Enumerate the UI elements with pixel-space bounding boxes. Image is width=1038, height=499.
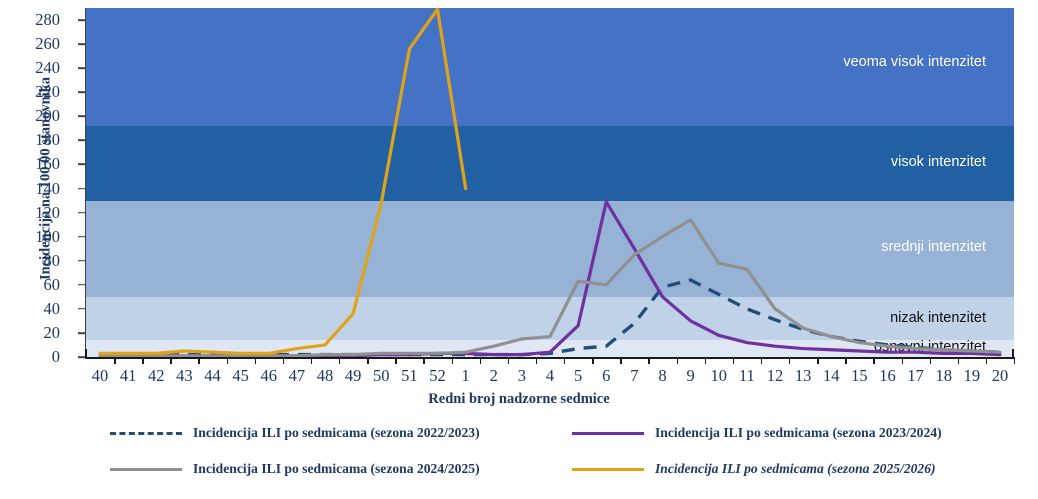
x-tick-label: 5 [574,366,582,386]
x-axis-title: Redni broj nadzorne sedmice [0,391,1038,408]
x-tick-label: 2 [490,366,498,386]
x-tick-label: 3 [518,366,526,386]
x-tick-label: 19 [964,366,981,386]
legend-label: Incidencija ILI po sedmicama (sezona 202… [193,425,480,441]
x-tick-mark [789,357,790,364]
x-tick-mark [733,357,734,364]
x-tick-mark [114,357,115,364]
y-tick-label: 100 [35,227,60,247]
x-tick-label: 20 [992,366,1009,386]
x-tick-mark [480,357,481,364]
y-tick-label: 240 [35,58,60,78]
x-tick-label: 8 [658,366,666,386]
legend-label: Incidencija ILI po sedmicama (sezona 202… [655,461,936,477]
y-tick-label: 120 [35,203,60,223]
x-tick-label: 43 [176,366,193,386]
x-tick-label: 13 [795,366,812,386]
legend-item[interactable]: Incidencija ILI po sedmicama (sezona 202… [110,425,480,441]
x-tick-label: 16 [879,366,896,386]
chart-legend: Incidencija ILI po sedmicama (sezona 202… [0,417,1038,495]
y-tick-label: 140 [35,179,60,199]
x-tick-label: 49 [345,366,362,386]
series-line [100,202,1000,356]
x-tick-mark [677,357,678,364]
x-tick-mark [255,357,256,364]
series-line [100,220,1000,356]
plot-area: veoma visok intenzitetvisok intenzitetsr… [86,8,1014,357]
x-tick-mark [873,357,874,364]
legend-label: Incidencija ILI po sedmicama (sezona 202… [655,425,942,441]
x-tick-label: 41 [120,366,137,386]
x-tick-mark [958,357,959,364]
x-axis-left-cap [85,349,87,358]
x-tick-mark [705,357,706,364]
y-tick-label: 160 [35,154,60,174]
legend-swatch-3 [110,468,182,471]
x-tick-label: 10 [710,366,727,386]
x-tick-mark [1014,357,1015,364]
series-line [100,9,466,353]
y-tick-label: 220 [35,82,60,102]
x-tick-label: 15 [851,366,868,386]
x-tick-mark [198,357,199,364]
y-tick-label: 60 [44,275,61,295]
legend-swatch-4 [572,468,644,471]
x-tick-label: 50 [373,366,390,386]
x-tick-mark [311,357,312,364]
x-tick-mark [902,357,903,364]
series-lines [86,8,1014,357]
y-tick-label: 40 [44,299,61,319]
legend-swatch-2 [572,432,644,435]
x-tick-mark [817,357,818,364]
x-tick-label: 11 [739,366,755,386]
x-tick-mark [452,357,453,364]
x-tick-mark [592,357,593,364]
y-tick-label: 20 [44,323,61,343]
x-tick-mark [227,357,228,364]
x-tick-label: 52 [429,366,446,386]
x-tick-mark [845,357,846,364]
legend-item[interactable]: Incidencija ILI po sedmicama (sezona 202… [572,461,936,477]
x-tick-label: 14 [823,366,840,386]
x-tick-label: 1 [462,366,470,386]
x-tick-label: 46 [261,366,278,386]
x-tick-mark [986,357,987,364]
x-tick-label: 7 [630,366,638,386]
x-tick-label: 12 [767,366,784,386]
x-tick-label: 45 [232,366,249,386]
x-tick-label: 17 [907,366,924,386]
x-tick-mark [536,357,537,364]
x-tick-mark [142,357,143,364]
x-tick-label: 6 [602,366,610,386]
x-tick-mark [339,357,340,364]
x-tick-mark [395,357,396,364]
legend-swatch-1 [110,432,182,435]
legend-item[interactable]: Incidencija ILI po sedmicama (sezona 202… [110,461,480,477]
x-tick-mark [761,357,762,364]
ili-incidence-chart: Incidencija na 100 00 stanovnika 0204060… [0,0,1038,499]
x-tick-mark [170,357,171,364]
x-tick-label: 4 [546,366,554,386]
legend-item[interactable]: Incidencija ILI po sedmicama (sezona 202… [572,425,942,441]
x-tick-mark [367,357,368,364]
y-tick-label: 80 [44,251,61,271]
x-tick-mark [930,357,931,364]
legend-label: Incidencija ILI po sedmicama (sezona 202… [193,461,480,477]
x-tick-label: 51 [401,366,418,386]
x-tick-mark [423,357,424,364]
y-tick-label: 200 [35,106,60,126]
x-tick-mark [648,357,649,364]
y-axis-tick-labels: 020406080100120140160180200220240260280 [0,0,74,370]
y-tick-label: 180 [35,130,60,150]
x-tick-mark [564,357,565,364]
x-tick-mark [620,357,621,364]
x-tick-label: 42 [148,366,165,386]
x-tick-label: 40 [92,366,109,386]
y-tick-label: 280 [35,10,60,30]
x-tick-mark [508,357,509,364]
x-tick-label: 9 [686,366,694,386]
x-tick-label: 44 [204,366,221,386]
x-tick-label: 18 [935,366,952,386]
x-tick-label: 48 [317,366,334,386]
y-tick-label: 260 [35,34,60,54]
x-tick-mark [283,357,284,364]
x-axis-line [85,357,1015,359]
x-tick-label: 47 [289,366,306,386]
y-tick-label: 0 [52,347,60,367]
